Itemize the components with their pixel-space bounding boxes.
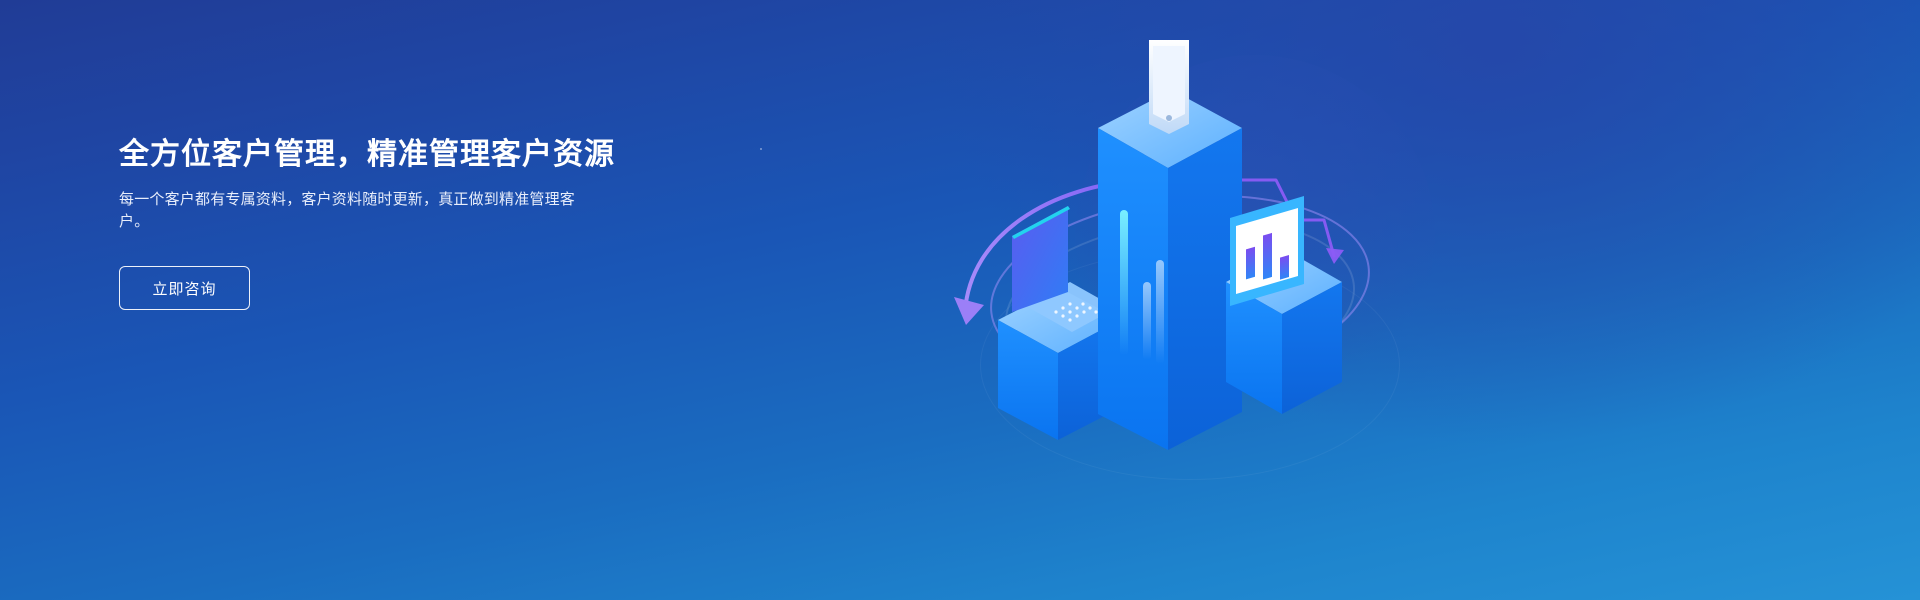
page-title: 全方位客户管理，精准管理客户资源 [119,135,759,175]
tall-pillar [1098,90,1242,450]
hero-illustration [930,20,1400,490]
background-dot [760,148,762,150]
chart-monitor-pedestal [1226,196,1342,414]
tablet-device [1149,40,1189,134]
hero-content: 全方位客户管理，精准管理客户资源 每一个客户都有专属资料，客户资料随时更新，真正… [119,135,759,310]
hero-subtext: 每一个客户都有专属资料，客户资料随时更新，真正做到精准管理客户。 [119,189,599,233]
consult-now-button[interactable]: 立即咨询 [119,266,250,310]
hero-banner: 全方位客户管理，精准管理客户资源 每一个客户都有专属资料，客户资料随时更新，真正… [0,0,1920,600]
